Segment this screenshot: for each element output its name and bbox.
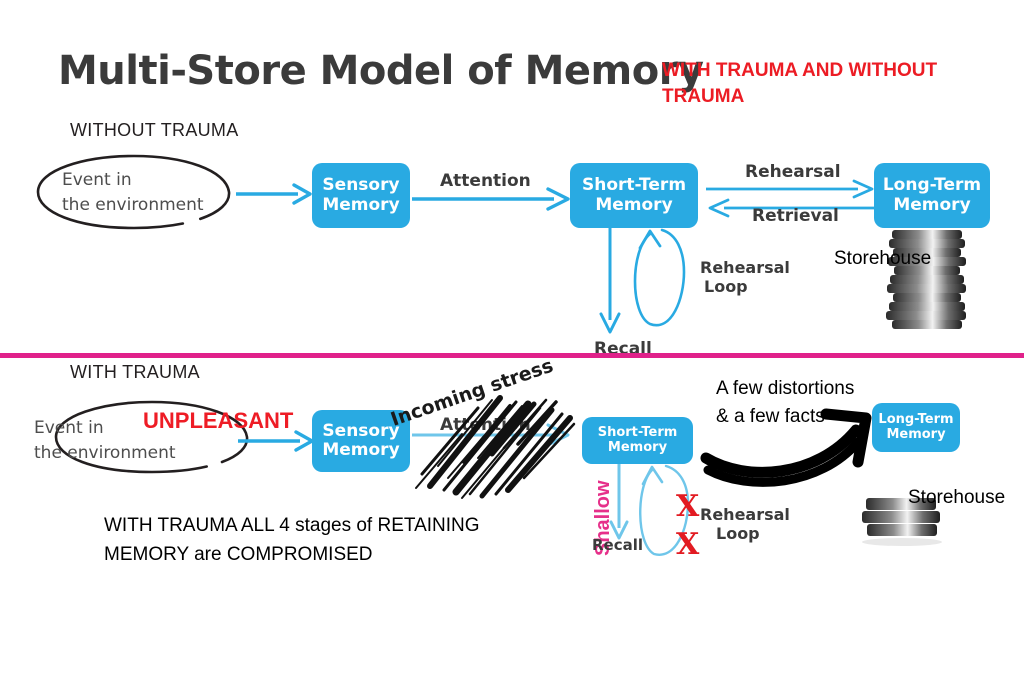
box-long-term-memory-top[interactable]: Long-Term Memory — [874, 163, 990, 228]
box-sensory-line2-bottom: Memory — [322, 441, 399, 460]
box-ltm-line2-bottom: Memory — [878, 428, 953, 443]
arrow-event-to-sensory-top — [236, 183, 314, 207]
arrow-attention-top — [412, 188, 572, 212]
label-rehearsal-top: Rehearsal — [745, 162, 841, 182]
arrow-distortion-to-ltm — [700, 408, 890, 478]
arrow-recall-bottom — [608, 464, 632, 542]
loop-line1-top: Rehearsal — [700, 258, 790, 277]
box-sensory-line1-top: Sensory — [322, 176, 399, 195]
box-ltm-line1-top: Long-Term — [883, 176, 981, 195]
section-label-with-trauma: WITH TRAUMA — [70, 362, 200, 383]
page-subtitle-red: WITH TRAUMA AND WITHOUT TRAUMA — [662, 58, 992, 109]
loop-line2-bottom: Loop — [716, 524, 790, 543]
arrow-rehearsal-top — [706, 181, 876, 199]
storehouse-coin-stack-icon-top — [884, 228, 974, 338]
loop-line2-top: Loop — [704, 277, 790, 296]
box-ltm-line1-bottom: Long-Term — [878, 413, 953, 428]
blocked-mark-1: X — [676, 492, 699, 522]
summary-line2: MEMORY are COMPROMISED — [104, 541, 480, 570]
box-stm-line2-top: Memory — [582, 196, 686, 215]
storehouse-label-top: Storehouse — [834, 248, 931, 270]
box-stm-line1-top: Short-Term — [582, 176, 686, 195]
box-sensory-memory-top[interactable]: Sensory Memory — [312, 163, 410, 228]
label-rehearsal-loop-top: Rehearsal Loop — [700, 258, 790, 296]
page-title: Multi-Store Model of Memory — [58, 48, 704, 94]
section-label-without-trauma: WITHOUT TRAUMA — [70, 120, 239, 141]
event-line2-bottom: the environment — [34, 441, 176, 466]
diagram-canvas: Multi-Store Model of Memory WITH TRAUMA … — [0, 0, 1024, 684]
arrow-recall-top — [598, 228, 624, 336]
summary-note: WITH TRAUMA ALL 4 stages of RETAINING ME… — [104, 512, 480, 569]
box-short-term-memory-top[interactable]: Short-Term Memory — [570, 163, 698, 228]
event-text-top: Event in the environment — [62, 168, 204, 217]
box-sensory-line2-top: Memory — [322, 196, 399, 215]
blocked-mark-2: X — [676, 530, 699, 560]
page-subtitle-red-text: WITH TRAUMA AND WITHOUT TRAUMA — [662, 60, 937, 107]
summary-line1: WITH TRAUMA ALL 4 stages of RETAINING — [104, 512, 480, 541]
distortion-note-line1: A few distortions — [716, 375, 854, 403]
box-long-term-memory-bottom[interactable]: Long-Term Memory — [872, 403, 960, 452]
rehearsal-loop-top — [628, 228, 688, 334]
storehouse-label-bottom: Storehouse — [908, 487, 1005, 509]
event-line1-top: Event in — [62, 168, 204, 193]
label-rehearsal-loop-bottom: Rehearsal Loop — [700, 505, 790, 543]
loop-line1-bottom: Rehearsal — [700, 505, 790, 524]
box-ltm-line2-top: Memory — [883, 196, 981, 215]
box-short-term-memory-bottom[interactable]: Short-Term Memory — [582, 417, 693, 464]
box-sensory-line1-bottom: Sensory — [322, 422, 399, 441]
box-stm-line1-bottom: Short-Term — [598, 426, 678, 441]
label-retrieval-top: Retrieval — [752, 206, 839, 226]
section-divider — [0, 353, 1024, 358]
arrow-event-to-sensory-bottom — [238, 430, 316, 454]
box-stm-line2-bottom: Memory — [598, 441, 678, 456]
event-line2-top: the environment — [62, 193, 204, 218]
